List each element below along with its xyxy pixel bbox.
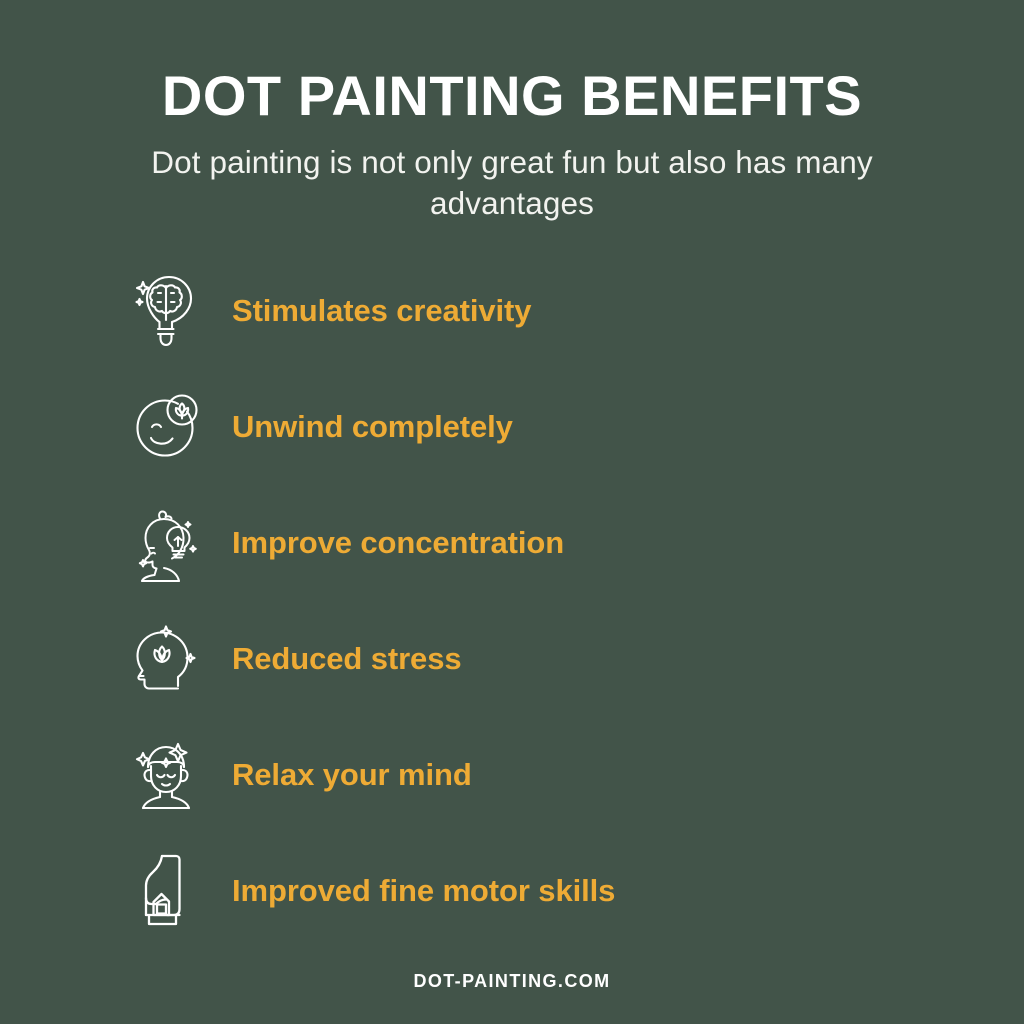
- benefit-label: Relax your mind: [232, 757, 472, 793]
- brain-lightbulb-icon: [128, 268, 204, 354]
- benefit-label: Improved fine motor skills: [232, 873, 615, 909]
- head-lotus-icon: [128, 616, 204, 702]
- smiley-flower-icon: [128, 384, 204, 470]
- benefit-item-creativity: Stimulates creativity: [128, 261, 531, 361]
- footer: DOT-PAINTING.COM: [0, 971, 1024, 992]
- poster-canvas: DOT PAINTING BENEFITS Dot painting is no…: [0, 0, 1024, 1024]
- benefit-item-concentration: Improve concentration: [128, 493, 564, 593]
- website-url: DOT-PAINTING.COM: [413, 971, 610, 991]
- head-lightbulb-icon: [128, 500, 204, 586]
- hand-holding-block-icon: [128, 848, 204, 934]
- benefit-label: Reduced stress: [232, 641, 461, 677]
- benefit-item-relax: Relax your mind: [128, 725, 472, 825]
- benefit-label: Unwind completely: [232, 409, 513, 445]
- benefit-item-stress: Reduced stress: [128, 609, 461, 709]
- benefit-item-unwind: Unwind completely: [128, 377, 513, 477]
- benefits-list: Stimulates creativity: [0, 261, 1024, 941]
- page-title: DOT PAINTING BENEFITS: [0, 66, 1024, 125]
- header: DOT PAINTING BENEFITS Dot painting is no…: [0, 0, 1024, 223]
- calm-face-stars-icon: [128, 732, 204, 818]
- page-subtitle: Dot painting is not only great fun but a…: [142, 142, 882, 223]
- benefit-label: Improve concentration: [232, 525, 564, 561]
- benefit-item-motor-skills: Improved fine motor skills: [128, 841, 615, 941]
- benefit-label: Stimulates creativity: [232, 293, 531, 329]
